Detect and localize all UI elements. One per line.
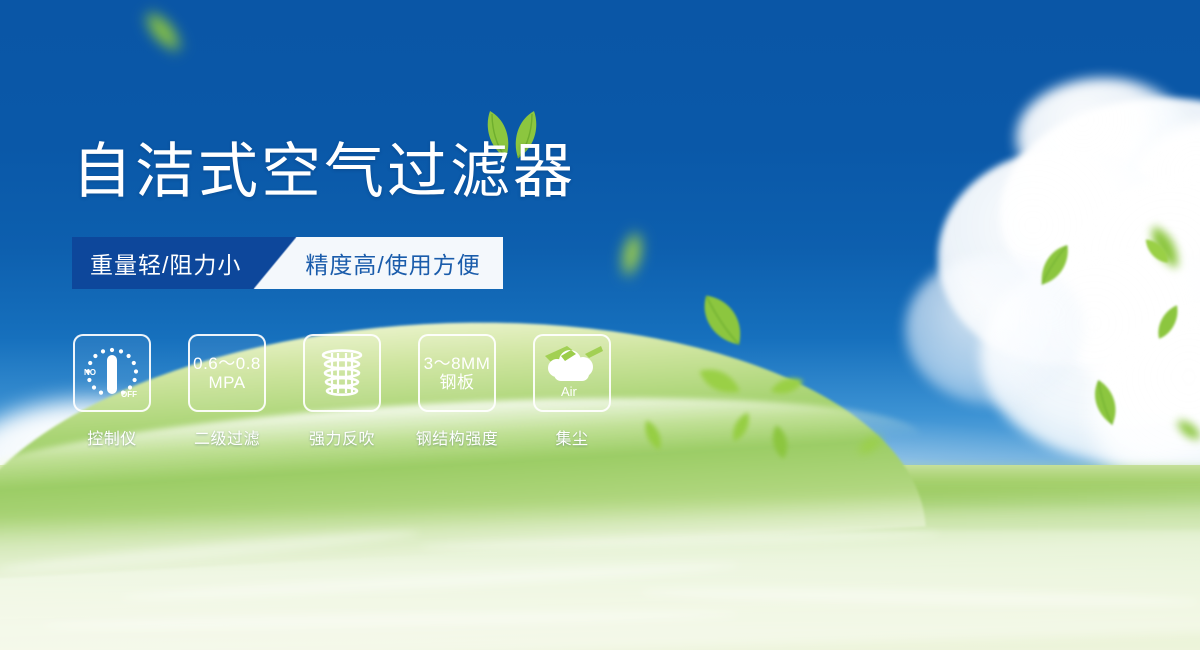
steel-line-2: 钢板	[424, 373, 491, 392]
feature-item[interactable]: 强力反吹	[302, 334, 382, 449]
feature-item[interactable]: NO OFF 控制仪	[72, 334, 152, 449]
feature-caption: 钢结构强度	[416, 425, 499, 449]
feature-item[interactable]: 0.6～0.8 MPA 二级过滤	[187, 334, 267, 449]
feature-list: NO OFF 控制仪 0.6～0.8 MPA 二级过滤	[72, 334, 612, 449]
feature-caption: 强力反吹	[309, 425, 375, 449]
pressure-text-icon: 0.6～0.8 MPA	[193, 354, 261, 392]
filter-cartridge-icon	[314, 345, 370, 401]
pressure-line-2: MPA	[193, 373, 261, 392]
steel-line-1: 3～8MM	[424, 354, 491, 373]
page-title: 自洁式空气过滤器	[72, 142, 576, 202]
feature-icon-box: 3～8MM 钢板	[418, 334, 496, 412]
feature-icon-box: NO OFF	[73, 334, 151, 412]
subtitle-bar: 重量轻/阻力小 精度高/使用方便	[72, 237, 503, 289]
pressure-line-1: 0.6～0.8	[193, 354, 261, 373]
svg-text:Air: Air	[561, 384, 578, 399]
steel-plate-text-icon: 3～8MM 钢板	[424, 354, 491, 392]
subtitle-left-text: 重量轻/阻力小	[72, 237, 271, 289]
feature-icon-box	[303, 334, 381, 412]
feature-item[interactable]: Air 集尘	[532, 334, 612, 449]
feature-icon-box: 0.6～0.8 MPA	[188, 334, 266, 412]
feature-caption: 集尘	[555, 425, 588, 449]
feature-caption: 控制仪	[87, 425, 137, 449]
feature-item[interactable]: 3～8MM 钢板 钢结构强度	[417, 334, 497, 449]
product-banner: 自洁式空气过滤器 重量轻/阻力小 精度高/使用方便	[0, 0, 1200, 650]
control-dial-icon: NO OFF	[81, 344, 143, 402]
svg-text:NO: NO	[84, 368, 96, 377]
feature-caption: 二级过滤	[194, 425, 260, 449]
feature-icon-box: Air	[533, 334, 611, 412]
svg-text:OFF: OFF	[121, 390, 137, 399]
subtitle-right-text: 精度高/使用方便	[279, 237, 502, 289]
air-cloud-icon: Air	[541, 344, 603, 402]
